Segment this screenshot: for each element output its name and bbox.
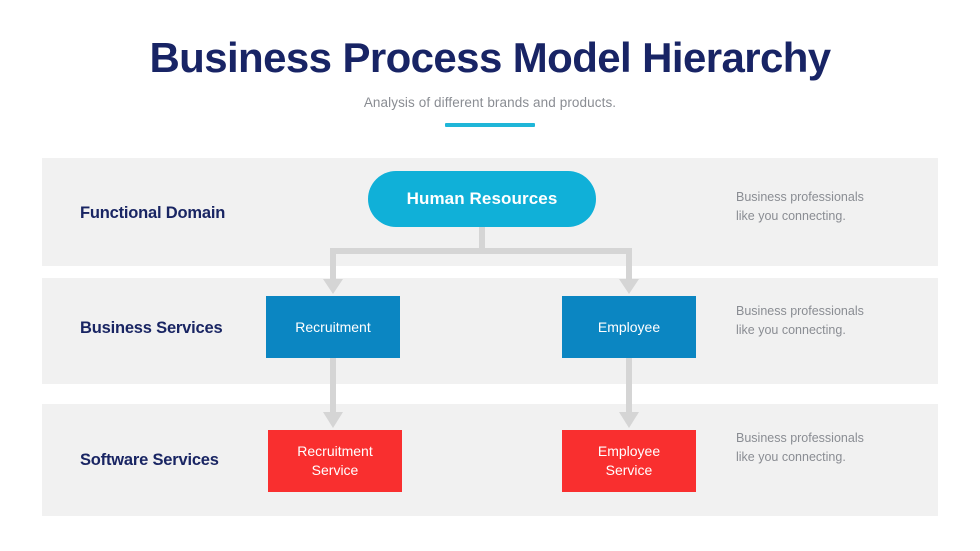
slide-canvas: Business Process Model Hierarchy Analysi…	[0, 0, 980, 551]
slide-header: Business Process Model Hierarchy Analysi…	[0, 36, 980, 127]
node-employee-service[interactable]: Employee Service	[562, 430, 696, 492]
row-description-software-services: Business professionals like you connecti…	[736, 429, 876, 468]
row-label-software-services: Software Services	[80, 451, 219, 470]
row-label-business-services: Business Services	[80, 319, 222, 338]
node-label-line1: Recruitment	[297, 443, 372, 459]
node-label: Human Resources	[407, 189, 558, 209]
node-label: Employee Service	[598, 442, 660, 480]
page-title: Business Process Model Hierarchy	[0, 36, 980, 81]
row-description-business-services: Business professionals like you connecti…	[736, 302, 876, 341]
node-recruitment[interactable]: Recruitment	[266, 296, 400, 358]
node-label: Recruitment	[295, 319, 370, 335]
node-label-line2: Service	[606, 462, 653, 478]
title-accent-bar	[445, 123, 535, 127]
row-description-functional-domain: Business professionals like you connecti…	[736, 188, 876, 227]
node-recruitment-service[interactable]: Recruitment Service	[268, 430, 402, 492]
node-label-line1: Employee	[598, 443, 660, 459]
page-subtitle: Analysis of different brands and product…	[0, 95, 980, 110]
row-label-functional-domain: Functional Domain	[80, 204, 225, 223]
node-label: Recruitment Service	[297, 442, 372, 480]
node-human-resources[interactable]: Human Resources	[368, 171, 596, 227]
node-employee[interactable]: Employee	[562, 296, 696, 358]
node-label-line2: Service	[312, 462, 359, 478]
node-label: Employee	[598, 319, 660, 335]
